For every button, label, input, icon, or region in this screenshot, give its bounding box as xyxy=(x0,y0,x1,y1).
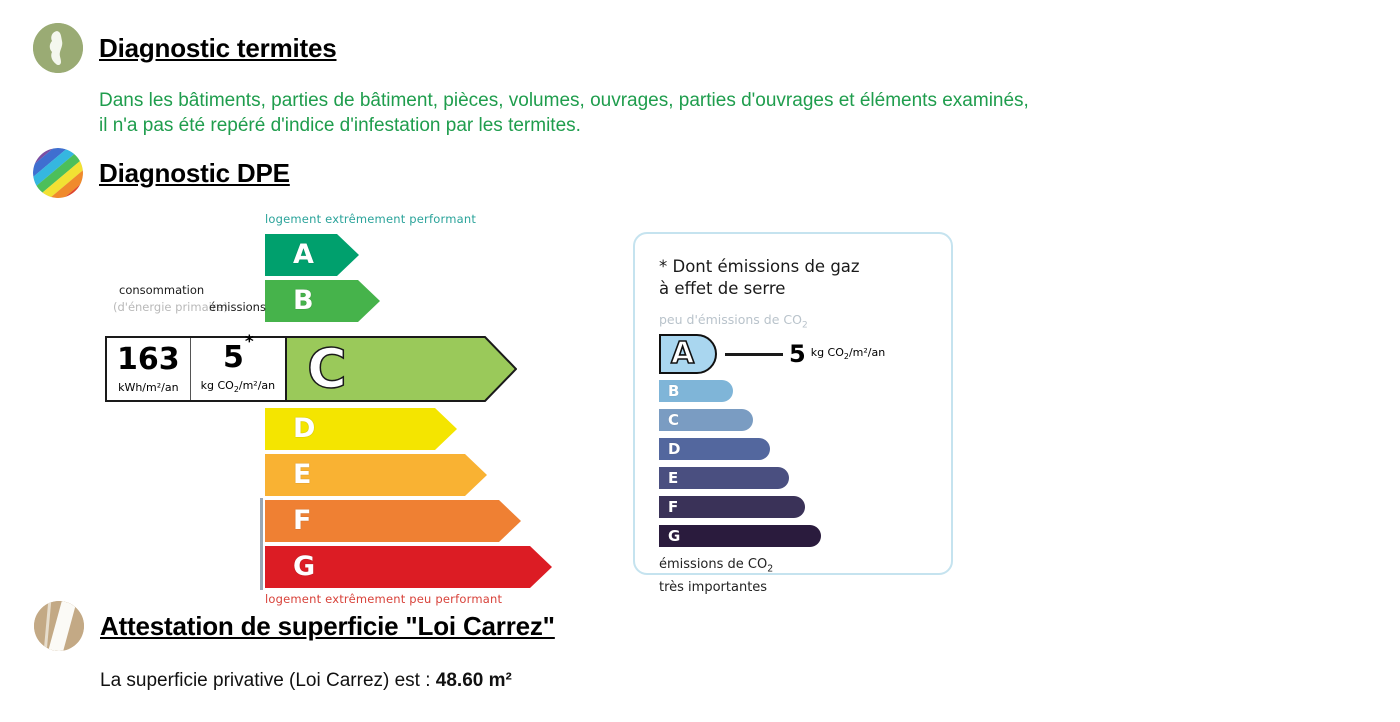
dpe-bar-c-label: C xyxy=(307,340,347,398)
co2-bar-g: G xyxy=(659,525,821,547)
page-title-loi-carrez: Attestation de superficie "Loi Carrez" xyxy=(100,611,555,642)
co2-panel-title: * Dont émissions de gaz à effet de serre xyxy=(659,256,860,300)
co2-top-label: peu d'émissions de CO2 xyxy=(659,312,808,331)
loi-carrez-body: La superficie privative (Loi Carrez) est… xyxy=(100,668,512,693)
dpe-emission-value: 5* xyxy=(223,343,253,373)
co2-bar-d-row: D xyxy=(659,438,770,460)
co2-bar-e-label: E xyxy=(668,469,678,487)
dpe-current-class-row: 163 kWh/m²/an 5* kg CO2/m²/an xyxy=(105,336,517,402)
co2-bar-f-label: F xyxy=(668,498,678,516)
dpe-emission-number: 5 xyxy=(223,340,244,375)
co2-emissions-panel: * Dont émissions de gaz à effet de serre… xyxy=(633,232,953,575)
co2-bar-c-row: C xyxy=(659,409,753,431)
dpe-emission-cell: 5* kg CO2/m²/an xyxy=(190,338,285,400)
section-attestation-loi-carrez: Attestation de superficie "Loi Carrez" L… xyxy=(0,0,50,50)
dpe-bottom-label: logement extrêmement peu performant xyxy=(265,592,502,606)
dpe-consumption-value: 163 xyxy=(117,345,180,375)
co2-bar-e: E xyxy=(659,467,789,489)
page-title-dpe: Diagnostic DPE xyxy=(99,158,290,189)
measuring-tape-icon xyxy=(34,601,84,651)
dpe-bar-e: E xyxy=(265,454,487,496)
co2-bar-c-label: C xyxy=(668,411,679,429)
rainbow-dpe-icon xyxy=(33,148,83,198)
termites-text-line-2: il n'a pas été repéré d'indice d'infesta… xyxy=(99,113,581,138)
co2-bar-a-row: A 5 kg CO2/m²/an xyxy=(659,334,885,374)
co2-bar-f-row: F xyxy=(659,496,805,518)
co2-bar-d-label: D xyxy=(668,440,680,458)
dpe-header-emissions: émissions xyxy=(209,300,266,314)
co2-bar-g-label: G xyxy=(668,527,680,545)
co2-bar-e-row: E xyxy=(659,467,789,489)
dpe-bar-b-label: B xyxy=(293,287,314,314)
co2-value: 5 xyxy=(789,340,806,368)
dpe-bar-e-label: E xyxy=(293,461,311,488)
dpe-energy-scale-chart: logement extrêmement performant A B cons… xyxy=(105,210,585,585)
dpe-bar-a: A xyxy=(265,234,359,276)
dpe-value-box: 163 kWh/m²/an 5* kg CO2/m²/an xyxy=(105,336,285,402)
co2-bar-c: C xyxy=(659,409,753,431)
dpe-bar-b: B xyxy=(265,280,380,322)
co2-bar-f: F xyxy=(659,496,805,518)
dpe-bar-d: D xyxy=(265,408,457,450)
co2-bar-d: D xyxy=(659,438,770,460)
co2-bar-b-label: B xyxy=(668,382,679,400)
co2-leader-line xyxy=(725,353,783,356)
dpe-bar-f: F xyxy=(265,500,521,542)
dpe-consumption-cell: 163 kWh/m²/an xyxy=(107,338,190,400)
dpe-side-tick xyxy=(260,498,263,590)
dpe-emission-unit: kg CO2/m²/an xyxy=(201,379,275,394)
dpe-bar-g: G xyxy=(265,546,552,588)
dpe-bar-a-label: A xyxy=(293,241,314,268)
co2-bar-b-row: B xyxy=(659,380,733,402)
page-title-termites: Diagnostic termites xyxy=(99,33,337,64)
dpe-bar-c: C xyxy=(285,336,517,402)
co2-bar-b: B xyxy=(659,380,733,402)
dpe-header-consumption: consommation xyxy=(119,283,204,297)
co2-unit: kg CO2/m²/an xyxy=(811,346,885,361)
dpe-bar-d-label: D xyxy=(293,415,315,442)
dpe-consumption-unit: kWh/m²/an xyxy=(118,381,178,394)
dpe-top-label: logement extrêmement performant xyxy=(265,212,476,226)
dpe-bar-g-label: G xyxy=(293,553,315,580)
co2-bottom-label: émissions de CO2très importantes xyxy=(659,556,773,597)
co2-bar-a: A xyxy=(659,334,717,374)
dpe-emission-star: * xyxy=(245,332,254,352)
co2-bar-a-label: A xyxy=(671,338,694,370)
dpe-bar-f-label: F xyxy=(293,507,311,534)
loi-carrez-surface-value: 48.60 m² xyxy=(436,670,512,691)
co2-bar-g-row: G xyxy=(659,525,821,547)
termites-text-line-1: Dans les bâtiments, parties de bâtiment,… xyxy=(99,88,1029,113)
loi-carrez-body-prefix: La superficie privative (Loi Carrez) est… xyxy=(100,670,436,691)
